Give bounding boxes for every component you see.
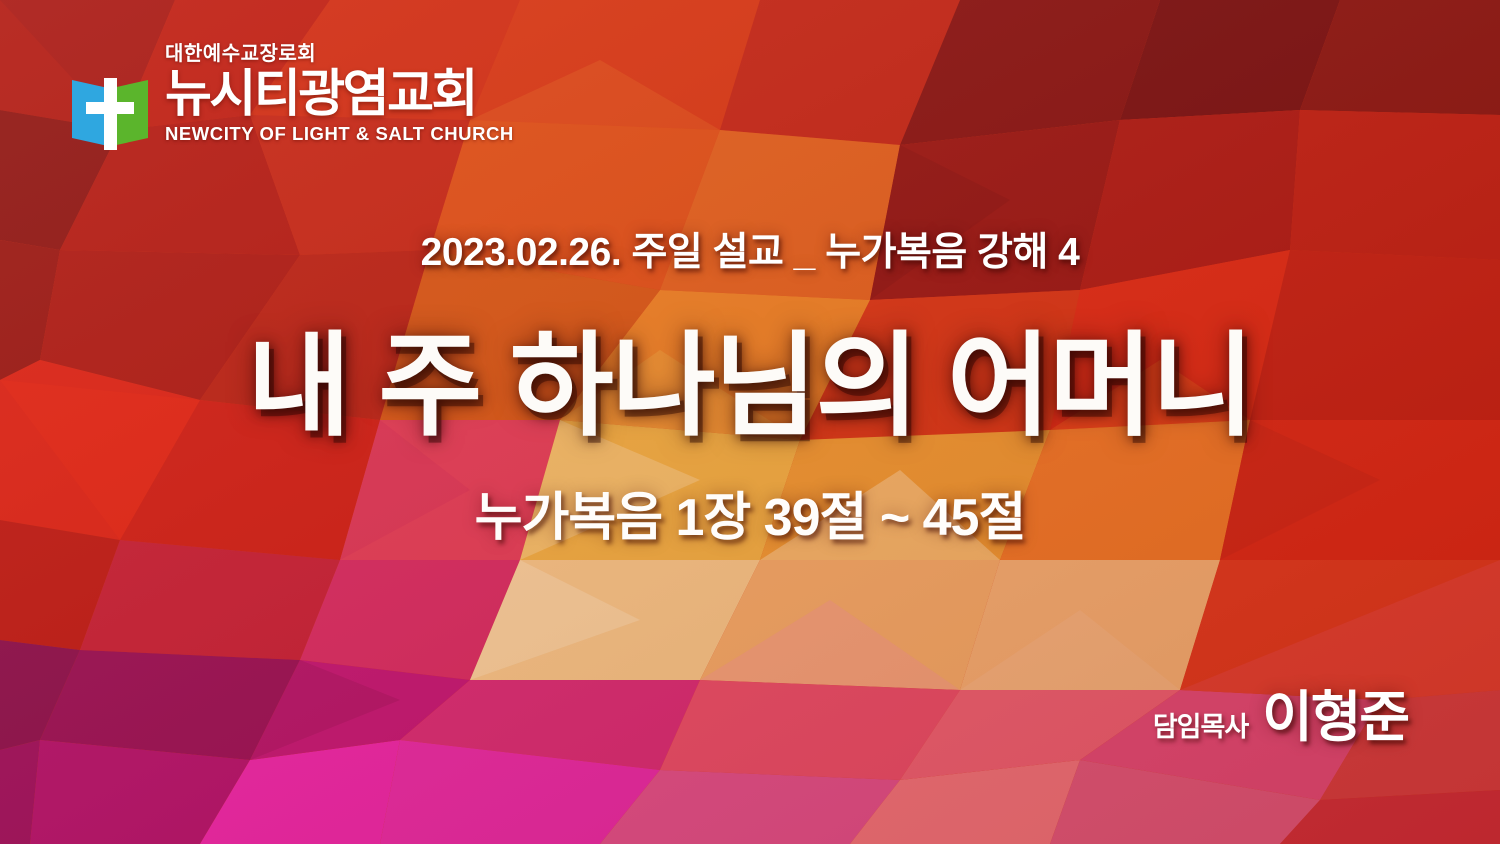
church-name-english: NEWCITY OF LIGHT & SALT CHURCH <box>165 125 514 144</box>
sermon-title-card: 대한예수교장로회 뉴시티광염교회 NEWCITY OF LIGHT & SALT… <box>0 0 1500 844</box>
sermon-content-block: 2023.02.26. 주일 설교 _ 누가복음 강해 4 내 주 하나님의 어… <box>0 232 1500 547</box>
scripture-reference: 누가복음 1장 39절 ~ 45절 <box>0 490 1500 547</box>
church-logo-lockup: 대한예수교장로회 뉴시티광염교회 NEWCITY OF LIGHT & SALT… <box>68 44 514 158</box>
preacher-name: 이형준 <box>1262 672 1408 752</box>
denomination-label: 대한예수교장로회 <box>165 44 316 64</box>
church-name-korean: 뉴시티광염교회 <box>165 69 476 119</box>
sermon-series-line: 2023.02.26. 주일 설교 _ 누가복음 강해 4 <box>0 232 1500 275</box>
open-bible-cross-logo-icon <box>68 72 152 158</box>
logo-text-block: 대한예수교장로회 뉴시티광염교회 NEWCITY OF LIGHT & SALT… <box>165 44 514 143</box>
sermon-title: 내 주 하나님의 어머니 <box>0 327 1500 446</box>
preacher-role: 담임목사 <box>1153 705 1248 744</box>
preacher-credit: 담임목사 이형준 <box>1153 672 1408 752</box>
